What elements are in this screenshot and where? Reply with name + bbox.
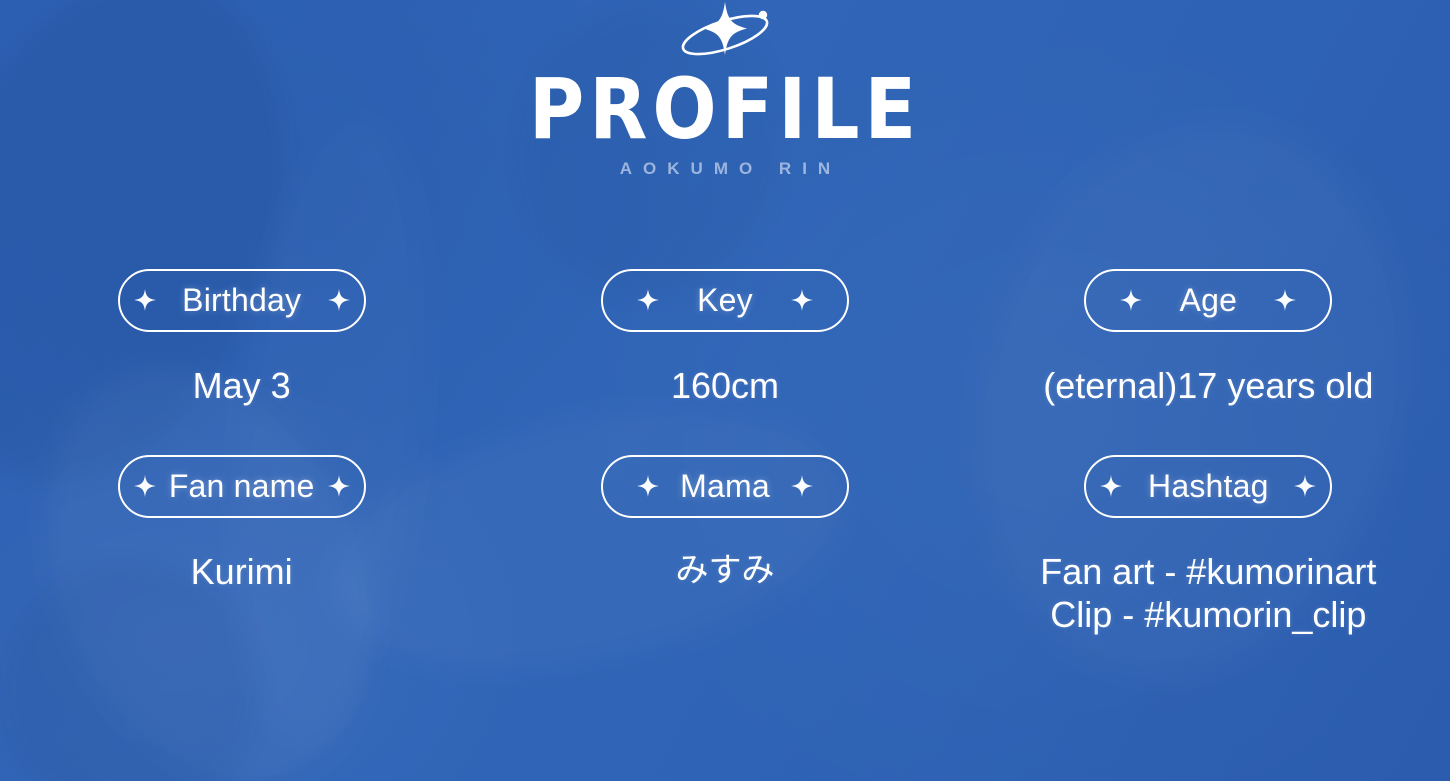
- entry-value: (eternal)17 years old: [1043, 364, 1373, 408]
- page-subtitle: AOKUMO RIN: [0, 159, 1450, 179]
- profile-header: PROFILE AOKUMO RIN: [0, 0, 1450, 179]
- label-pill-age: Age: [1084, 269, 1332, 332]
- entry-value: 160cm: [671, 364, 779, 408]
- sparkle-icon: [328, 475, 350, 497]
- sparkle-icon: [1120, 289, 1142, 311]
- label-pill-mama: Mama: [601, 455, 849, 518]
- label-pill-key: Key: [601, 269, 849, 332]
- label-pill-birthday: Birthday: [118, 269, 366, 332]
- sparkle-icon: [134, 475, 156, 497]
- profile-entry-age: Age (eternal)17 years old: [967, 269, 1450, 408]
- profile-entries-grid: Birthday May 3 Key 160cm: [0, 269, 1450, 638]
- sparkle-icon: [134, 289, 156, 311]
- label-pill-fan-name: Fan name: [118, 455, 366, 518]
- sparkle-icon: [791, 475, 813, 497]
- sparkle-icon: [637, 289, 659, 311]
- profile-entry-key: Key 160cm: [483, 269, 966, 408]
- sparkle-icon: [637, 475, 659, 497]
- entry-label: Birthday: [182, 284, 301, 316]
- entry-value: Fan art - #kumorinart Clip - #kumorin_cl…: [1040, 550, 1376, 638]
- entry-label: Age: [1180, 284, 1238, 316]
- entry-label: Fan name: [169, 470, 315, 502]
- entry-label: Mama: [680, 470, 770, 502]
- entry-value: May 3: [193, 364, 291, 408]
- profile-entry-birthday: Birthday May 3: [0, 269, 483, 408]
- profile-card: PROFILE AOKUMO RIN Birthday May 3 Key: [0, 0, 1450, 781]
- profile-entry-mama: Mama みすみ: [483, 455, 966, 638]
- entry-label: Key: [697, 284, 753, 316]
- profile-entry-hashtag: Hashtag Fan art - #kumorinart Clip - #ku…: [967, 455, 1450, 638]
- sparkle-icon: [328, 289, 350, 311]
- profile-entry-fan-name: Fan name Kurimi: [0, 455, 483, 638]
- sparkle-icon: [1274, 289, 1296, 311]
- sparkle-icon: [1294, 475, 1316, 497]
- entry-value: Kurimi: [191, 550, 293, 594]
- entry-value: みすみ: [675, 550, 774, 590]
- sparkle-icon: [791, 289, 813, 311]
- entry-value-line: Fan art - #kumorinart: [1040, 550, 1376, 594]
- entry-label: Hashtag: [1148, 470, 1269, 502]
- entry-value-line: Clip - #kumorin_clip: [1040, 593, 1376, 637]
- sparkle-icon: [1100, 475, 1122, 497]
- page-title: PROFILE: [0, 72, 1450, 148]
- label-pill-hashtag: Hashtag: [1084, 455, 1332, 518]
- sparkle-orbit-icon: [667, 2, 783, 64]
